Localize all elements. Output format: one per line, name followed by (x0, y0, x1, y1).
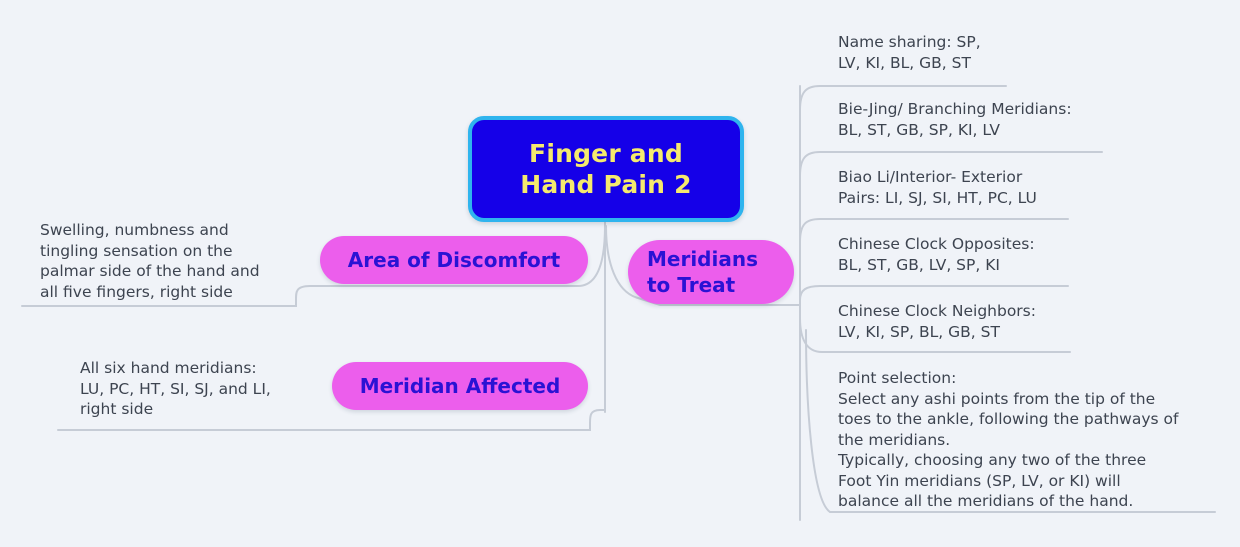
branch-label-meridians-to-treat-line-2: to Treat (628, 272, 794, 298)
leaf-point-selection: Point selection: Select any ashi points … (838, 368, 1218, 512)
mindmap-canvas: Finger and Hand Pain 2 Area of Discomfor… (0, 0, 1240, 547)
leaf-bie-jing: Bie-Jing/ Branching Meridians: BL, ST, G… (838, 99, 1178, 140)
leaf-clock-opposites: Chinese Clock Opposites: BL, ST, GB, LV,… (838, 234, 1178, 275)
central-node-line-1: Finger and (529, 138, 683, 169)
branch-node-area-of-discomfort[interactable]: Area of Discomfort (320, 236, 588, 284)
branch-label-area-of-discomfort: Area of Discomfort (348, 247, 560, 273)
leaf-name-sharing: Name sharing: SP, LV, KI, BL, GB, ST (838, 32, 1168, 73)
branch-label-meridian-affected: Meridian Affected (360, 373, 561, 399)
branch-node-meridians-to-treat[interactable]: Meridians to Treat (628, 240, 794, 304)
branch-node-meridian-affected[interactable]: Meridian Affected (332, 362, 588, 410)
leaf-biao-li: Biao Li/Interior- Exterior Pairs: LI, SJ… (838, 167, 1178, 208)
leaf-area-of-discomfort-detail: Swelling, numbness and tingling sensatio… (40, 220, 330, 302)
leaf-clock-neighbors: Chinese Clock Neighbors: LV, KI, SP, BL,… (838, 301, 1178, 342)
branch-label-meridians-to-treat-line-1: Meridians (628, 246, 794, 272)
central-node-line-2: Hand Pain 2 (520, 169, 691, 200)
leaf-meridian-affected-detail: All six hand meridians: LU, PC, HT, SI, … (80, 358, 330, 420)
connector-item-clock-opposites (800, 286, 1068, 300)
central-node[interactable]: Finger and Hand Pain 2 (468, 116, 744, 222)
